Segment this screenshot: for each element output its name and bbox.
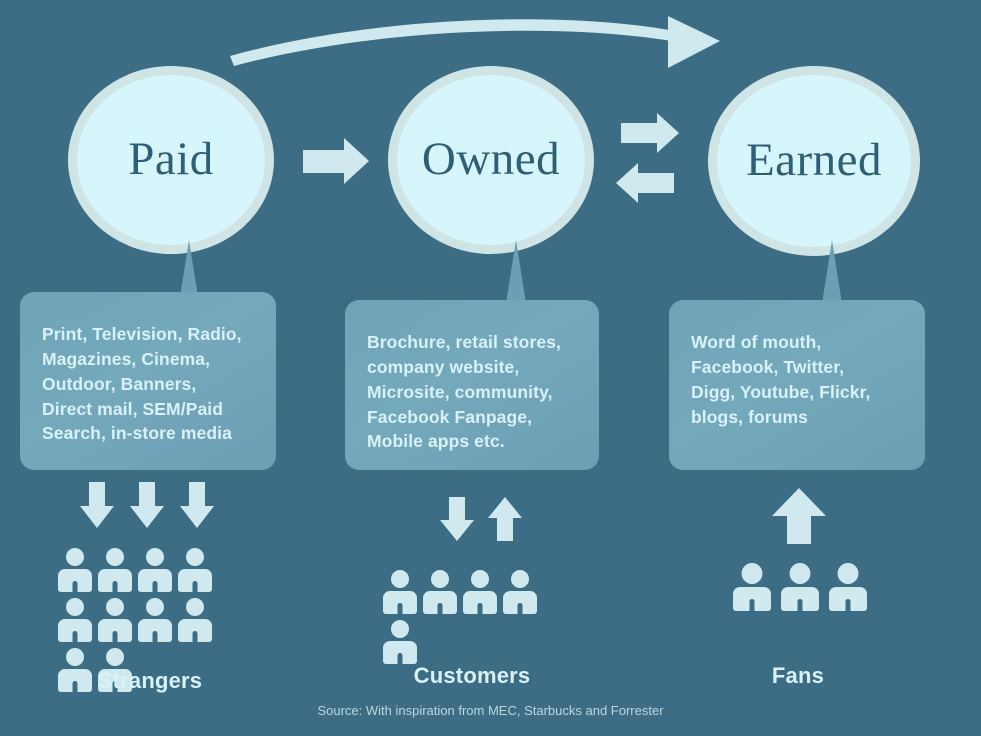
- stage-circle-earned[interactable]: Earned: [708, 66, 920, 256]
- source-note: Source: With inspiration from MEC, Starb…: [0, 703, 981, 718]
- audience-label-fans: Fans: [708, 663, 888, 689]
- person-icon: [178, 598, 212, 642]
- person-icon: [781, 563, 819, 611]
- stage-circle-owned[interactable]: Owned: [388, 66, 594, 254]
- media-box-earned-text: Word of mouth, Facebook, Twitter, Digg, …: [691, 330, 903, 429]
- media-box-earned[interactable]: Word of mouth, Facebook, Twitter, Digg, …: [669, 300, 925, 470]
- person-icon: [829, 563, 867, 611]
- person-icon: [423, 570, 457, 614]
- arrow-down-icon-strangers-3: [180, 482, 214, 528]
- audience-label-customers: Customers: [382, 663, 562, 689]
- audience-label-strangers: Strangers: [60, 668, 240, 694]
- arrow-down-icon-customers-in: [440, 497, 474, 541]
- arrow-right-icon-paid-to-owned: [303, 138, 369, 184]
- person-icon: [58, 548, 92, 592]
- media-box-paid-text: Print, Television, Radio, Magazines, Cin…: [42, 322, 254, 446]
- arrow-down-icon-strangers-1: [80, 482, 114, 528]
- media-box-owned[interactable]: Brochure, retail stores, company website…: [345, 300, 599, 470]
- arrow-up-icon-customers-out: [488, 497, 522, 541]
- arrow-up-icon-fans-out: [772, 488, 826, 544]
- media-box-owned-text: Brochure, retail stores, company website…: [367, 330, 577, 454]
- arrow-down-icon-strangers-2: [130, 482, 164, 528]
- person-icon: [138, 548, 172, 592]
- person-icon: [178, 548, 212, 592]
- person-icon: [98, 548, 132, 592]
- person-icon: [503, 570, 537, 614]
- stage-label-earned: Earned: [746, 137, 882, 184]
- stage-label-paid: Paid: [128, 136, 214, 183]
- stage-label-owned: Owned: [422, 136, 560, 183]
- infographic-canvas: Paid Owned Earned Print, Television, Rad…: [0, 0, 981, 736]
- arrow-right-icon-owned-to-earned: [621, 113, 679, 153]
- people-group-customers: [383, 570, 573, 664]
- person-icon: [98, 598, 132, 642]
- person-icon: [138, 598, 172, 642]
- person-icon: [463, 570, 497, 614]
- media-box-paid[interactable]: Print, Television, Radio, Magazines, Cin…: [20, 292, 276, 470]
- person-icon: [383, 570, 417, 614]
- people-group-fans: [733, 563, 873, 611]
- person-icon: [383, 620, 417, 664]
- arrow-left-icon-earned-to-owned: [616, 163, 674, 203]
- person-icon: [733, 563, 771, 611]
- stage-circle-paid[interactable]: Paid: [68, 66, 274, 254]
- person-icon: [58, 598, 92, 642]
